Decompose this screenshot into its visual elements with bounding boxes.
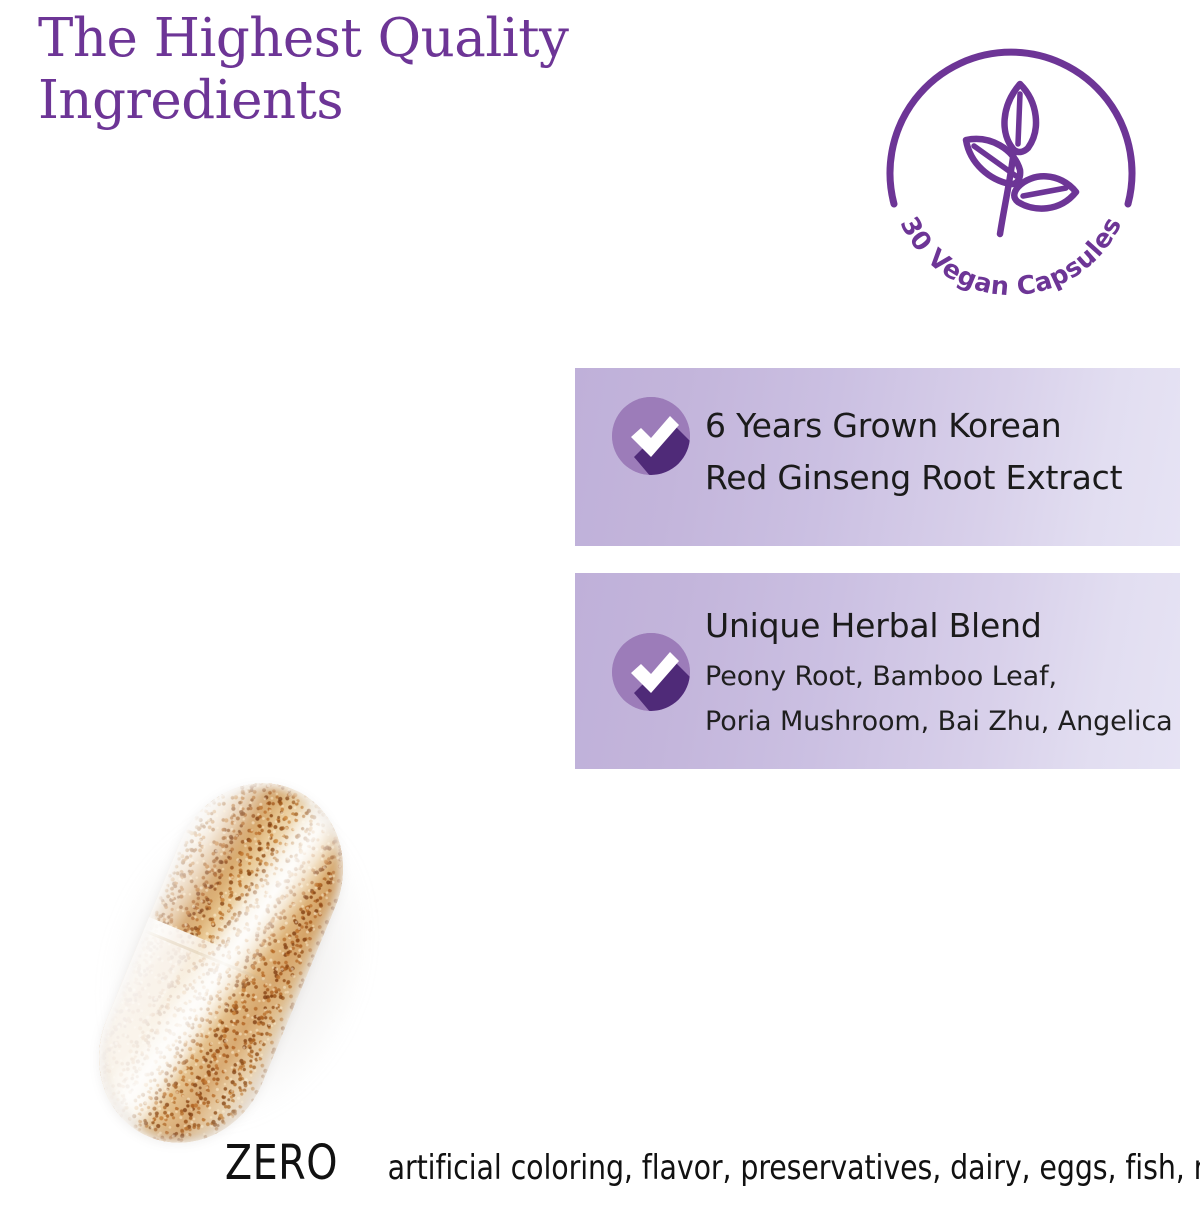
zero-emphasis-word: ZERO <box>225 1139 338 1187</box>
feature-card-herbal-blend-ingredients: Peony Root, Bamboo Leaf, Poria Mushroom,… <box>705 654 1173 744</box>
badge-label: 30 Vegan Capsules <box>894 212 1128 302</box>
zero-statement-text: artificial coloring, flavor, preservativ… <box>387 1151 1200 1185</box>
feature-card-ginseng: 6 Years Grown Korean Red Ginseng Root Ex… <box>575 368 1180 546</box>
product-capsule-image <box>40 370 440 820</box>
check-circle-icon <box>612 397 690 475</box>
zero-statement: ZERO artificial coloring, flavor, preser… <box>220 1139 1200 1187</box>
vegan-capsules-badge: 30 Vegan Capsules 30 Vegan Capsules <box>868 22 1158 322</box>
feature-card-herbal-blend: Unique Herbal Blend Peony Root, Bamboo L… <box>575 573 1180 769</box>
page-title: The Highest Quality Ingredients <box>38 8 658 132</box>
leaf-sprig-icon <box>966 84 1076 234</box>
feature-card-herbal-blend-title: Unique Herbal Blend <box>705 605 1042 647</box>
feature-card-ginseng-text: 6 Years Grown Korean Red Ginseng Root Ex… <box>705 400 1122 504</box>
badge-label-text: 30 Vegan Capsules <box>868 322 869 323</box>
check-circle-icon <box>612 633 690 711</box>
infographic-page: The Highest Quality Ingredients <box>0 0 1200 1225</box>
